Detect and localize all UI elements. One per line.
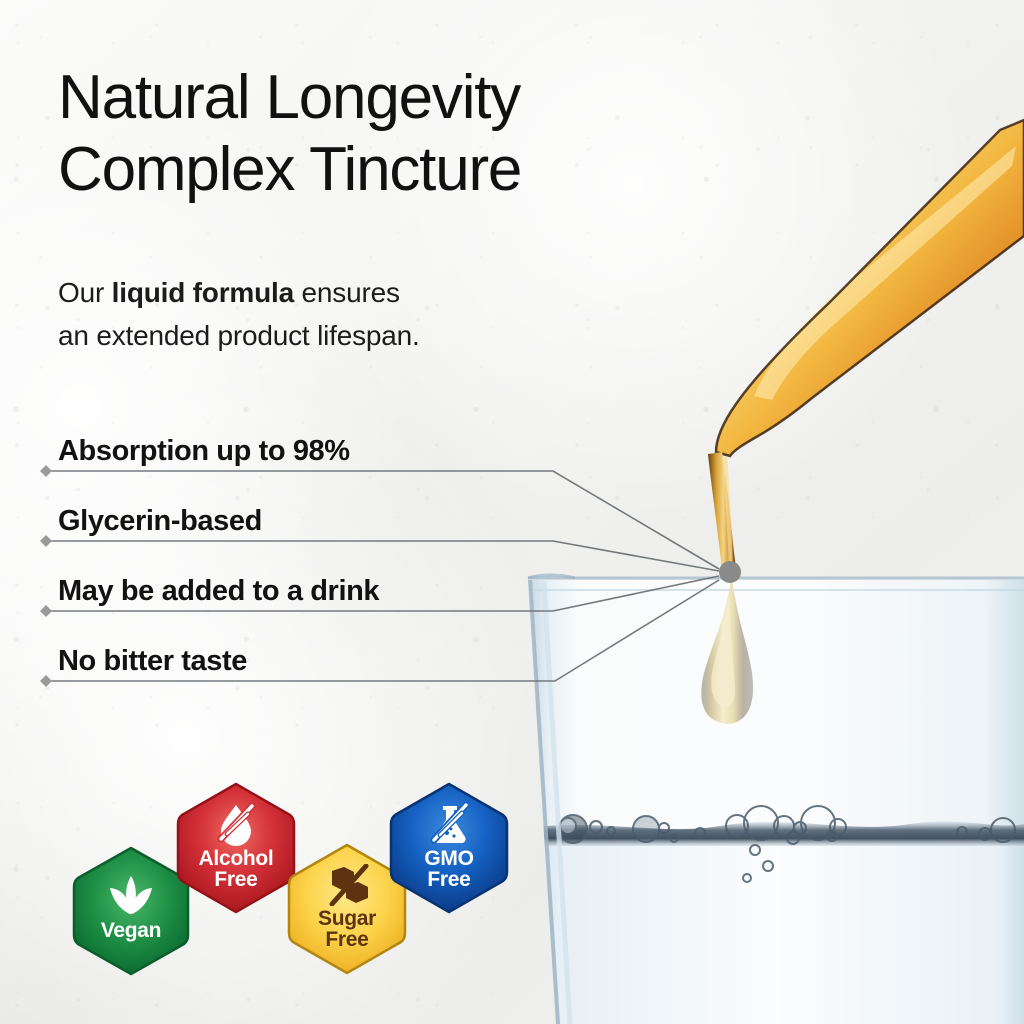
feature-label-add-to-drink: May be added to a drink [58, 575, 379, 608]
callout-hub-dot [719, 561, 741, 583]
gmo-free-hexagon-shape [389, 781, 509, 915]
badge-gmo-free: GMO Free [389, 781, 509, 915]
feature-label-absorption: Absorption up to 98% [58, 435, 350, 468]
subcopy-line-2: an extended product lifespan. [58, 320, 420, 351]
product-infographic-canvas: Natural Longevity Complex Tincture Our l… [0, 0, 1024, 1024]
headline-line-2: Complex Tincture [58, 134, 758, 206]
alcohol-free-hexagon-shape [176, 781, 296, 915]
headline-line-1: Natural Longevity [58, 62, 758, 134]
feature-label-no-bitter-taste: No bitter taste [58, 645, 247, 678]
vegan-hexagon-shape [72, 845, 190, 977]
subheading: Our liquid formula ensures an extended p… [58, 272, 618, 357]
subcopy-emphasis: liquid formula [112, 277, 294, 308]
callout-line-markers [40, 465, 52, 687]
page-title: Natural Longevity Complex Tincture [58, 62, 758, 206]
subcopy-after: ensures [294, 277, 400, 308]
subcopy-before: Our [58, 277, 112, 308]
glass-of-water [528, 575, 1024, 1024]
badge-vegan: Vegan [72, 845, 190, 977]
badge-alcohol-free: Alcohol Free [176, 781, 296, 915]
feature-label-glycerin: Glycerin-based [58, 505, 262, 538]
